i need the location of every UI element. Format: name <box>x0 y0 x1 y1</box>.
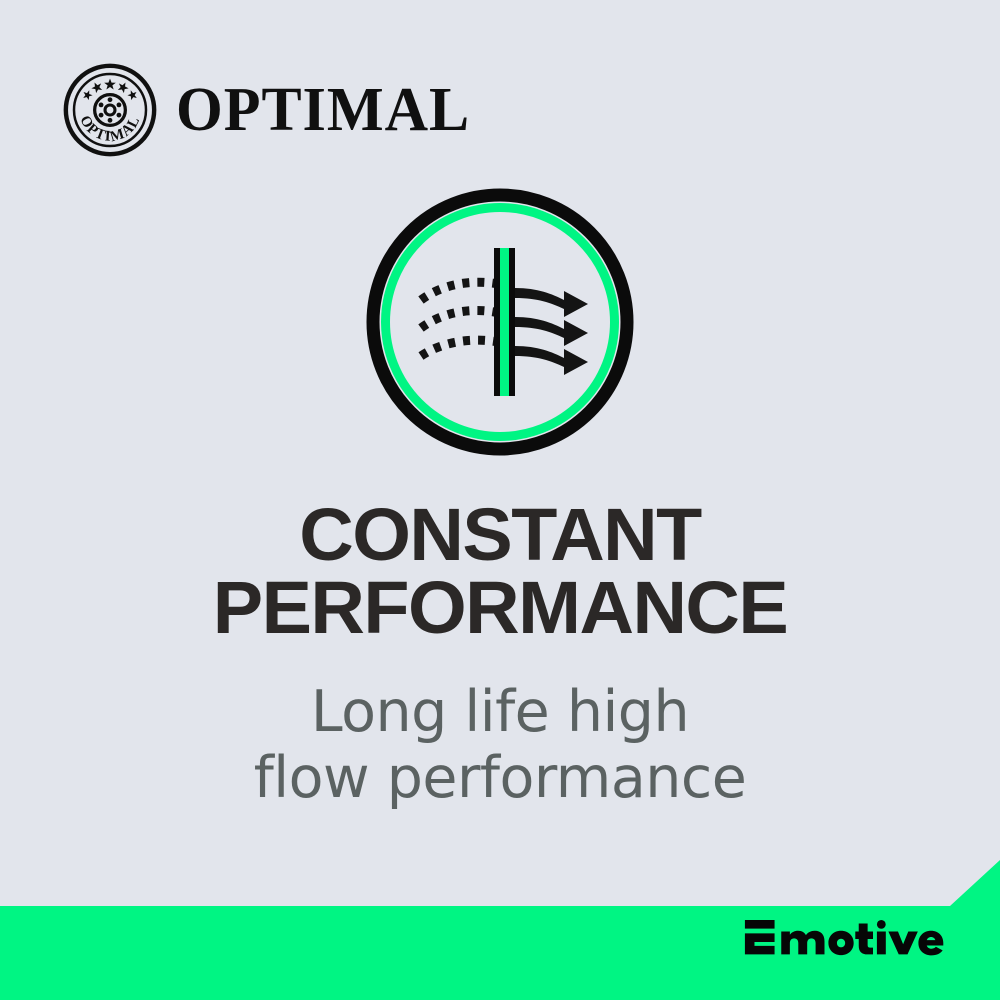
promo-card: OPTIMAL OPTIMAL <box>0 0 1000 1000</box>
page-subtitle: Long life high flow performance <box>40 679 960 811</box>
headline-line-1: CONSTANT <box>31 498 969 571</box>
airflow-through-filter-icon <box>366 188 634 456</box>
filter-element <box>494 248 515 396</box>
subhead-line-1: Long life high <box>40 679 960 745</box>
footer-band <box>0 860 1000 1000</box>
dashed-airflow-lines <box>421 282 503 356</box>
copy-block: CONSTANT PERFORMANCE Long life high flow… <box>0 498 1000 811</box>
page-title: CONSTANT PERFORMANCE <box>31 498 969 645</box>
emotive-wordmark-logo <box>743 920 952 964</box>
headline-line-2: PERFORMANCE <box>31 571 969 644</box>
brand-wordmark: OPTIMAL <box>176 79 470 141</box>
subhead-line-2: flow performance <box>40 745 960 811</box>
optimal-roundel-emblem-icon: OPTIMAL <box>62 62 158 158</box>
brand-lockup: OPTIMAL OPTIMAL <box>62 62 479 158</box>
airflow-arrows <box>515 288 588 375</box>
